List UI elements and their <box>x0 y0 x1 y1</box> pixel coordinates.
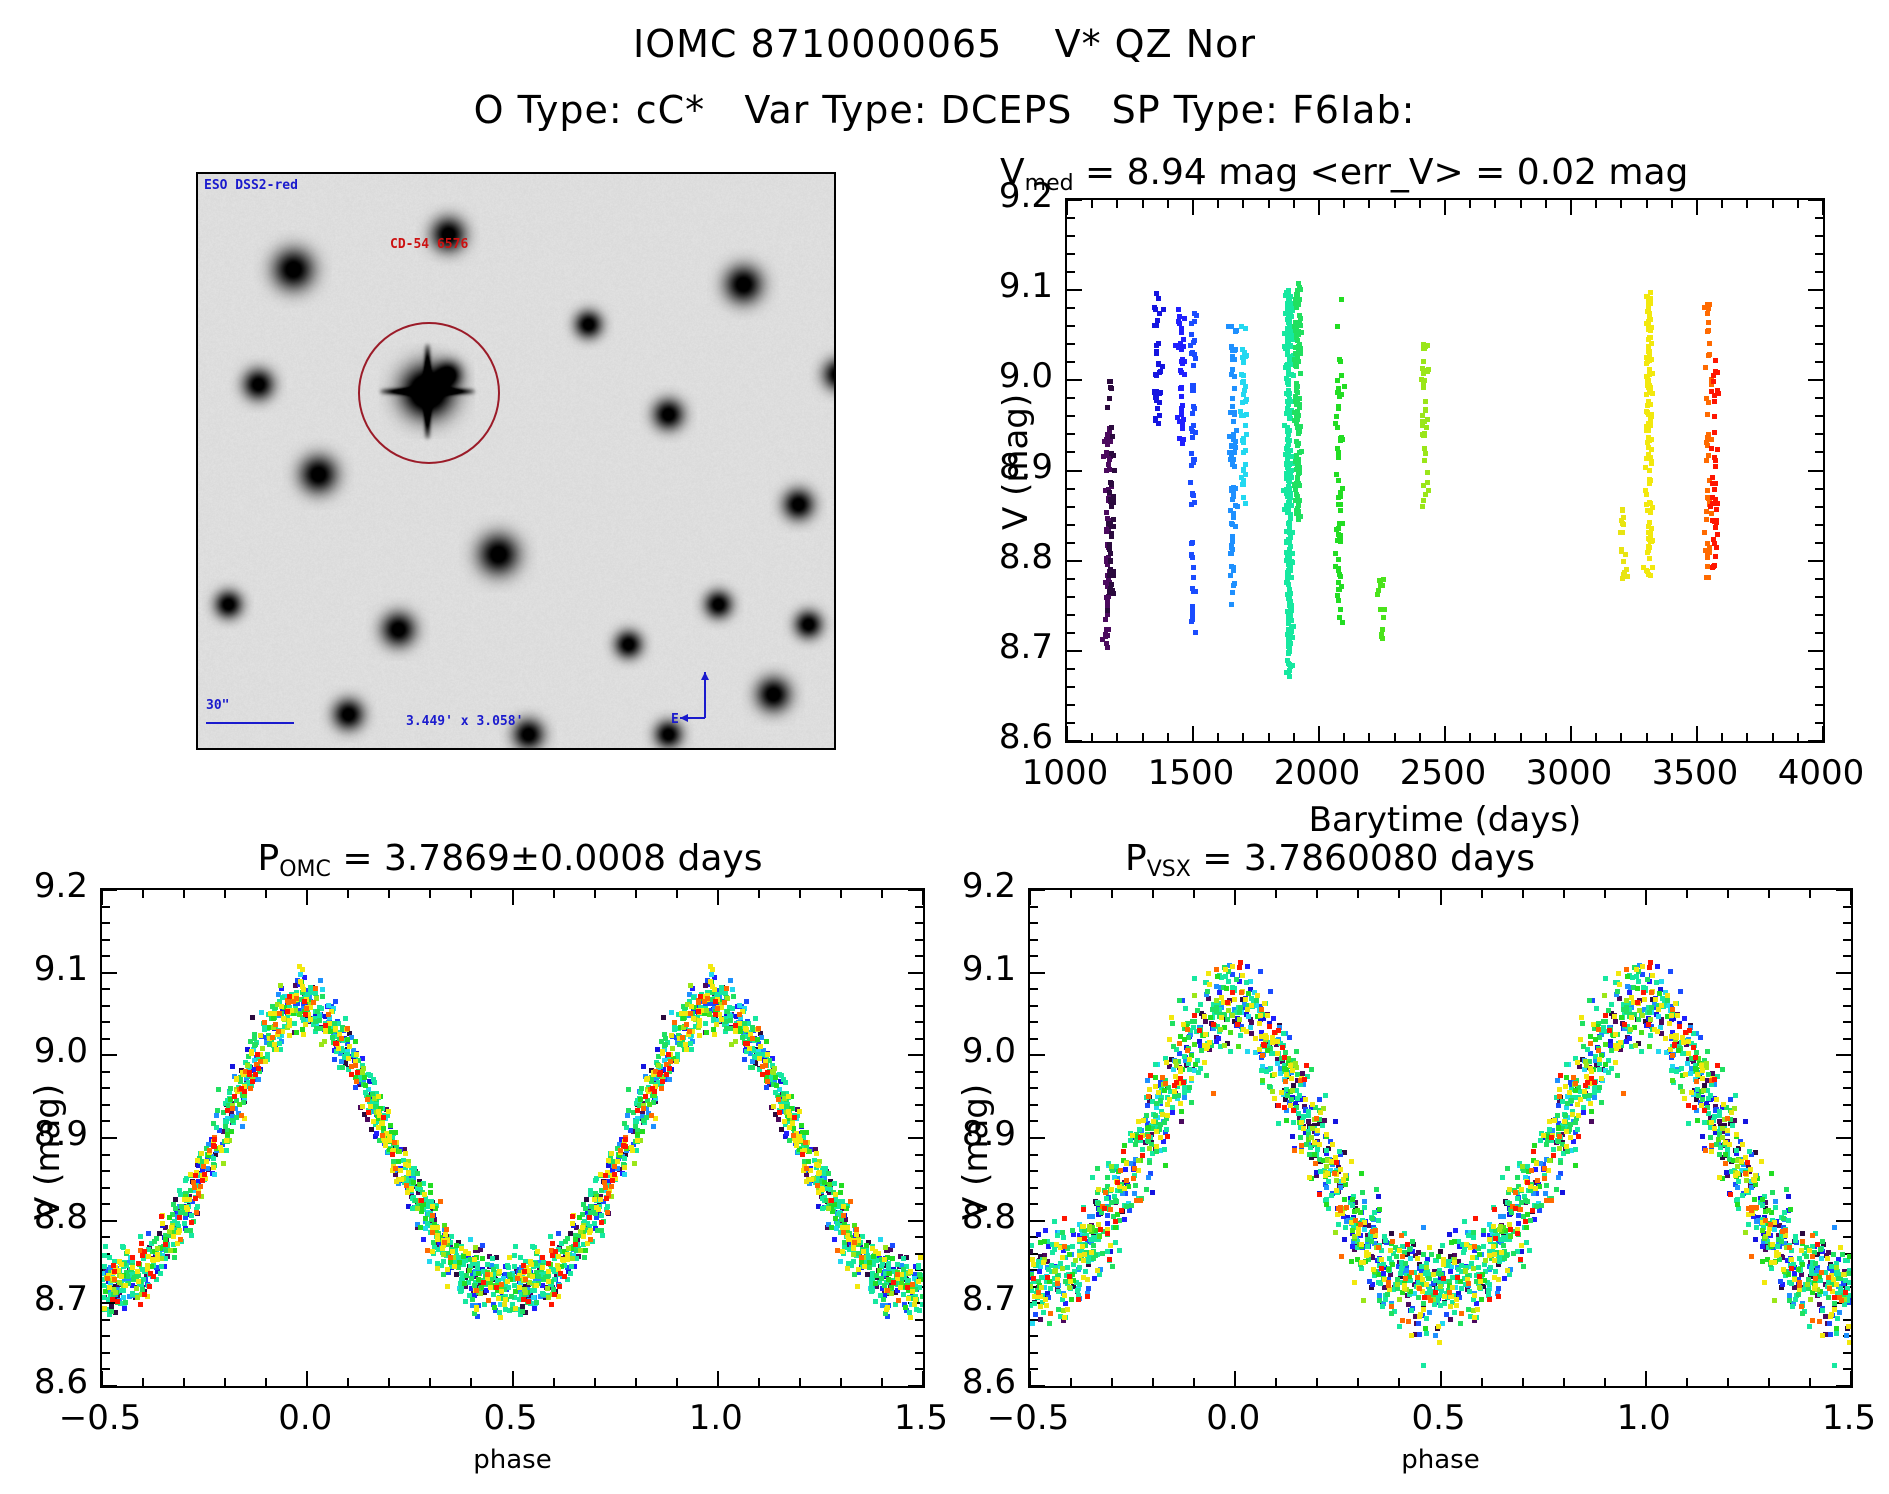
data-point <box>742 1021 747 1026</box>
data-point <box>445 1267 450 1272</box>
data-point <box>1703 548 1708 553</box>
data-point <box>1367 1279 1372 1284</box>
data-point <box>1339 392 1344 397</box>
data-point <box>786 1094 791 1099</box>
data-point <box>816 1171 821 1176</box>
data-point <box>308 1017 313 1022</box>
data-point <box>1033 1312 1038 1317</box>
data-point <box>1828 1332 1833 1337</box>
data-point <box>585 1241 590 1246</box>
data-point <box>1621 572 1626 577</box>
data-point <box>645 1076 650 1081</box>
data-point <box>1190 435 1195 440</box>
data-point <box>709 972 714 977</box>
data-point <box>1334 414 1339 419</box>
data-point <box>684 1022 689 1027</box>
data-point <box>123 1300 128 1305</box>
data-point <box>333 999 338 1004</box>
data-point <box>112 1269 117 1274</box>
data-point <box>430 1213 435 1218</box>
data-point <box>1425 480 1430 485</box>
data-point <box>887 1271 892 1276</box>
data-point <box>651 1124 656 1129</box>
data-point <box>622 1172 627 1177</box>
data-point <box>1423 451 1428 456</box>
data-point <box>1283 365 1288 370</box>
data-point <box>406 1171 411 1176</box>
phase-omc-x-axis-title: phase <box>100 1445 925 1475</box>
lightcurve-x-axis-title: Barytime (days) <box>1065 800 1825 840</box>
data-point <box>1232 410 1237 415</box>
data-point <box>1288 344 1293 349</box>
data-point <box>838 1190 843 1195</box>
dss-sky-image <box>198 174 834 748</box>
phase-vsx-title-subscript: VSX <box>1147 857 1191 882</box>
data-point <box>1462 1247 1467 1252</box>
data-point <box>1705 311 1710 316</box>
figure-root: IOMC 8710000065 V* QZ Nor O Type: cC* Va… <box>0 0 1889 1494</box>
data-point <box>777 1110 782 1115</box>
data-point <box>1648 317 1653 322</box>
data-point <box>1581 1110 1586 1115</box>
data-point <box>705 996 710 1001</box>
data-point <box>556 1231 561 1236</box>
data-point <box>714 1022 719 1027</box>
data-point <box>158 1271 163 1276</box>
data-point <box>1648 1033 1653 1038</box>
data-point <box>292 1021 297 1026</box>
data-point <box>189 1233 194 1238</box>
data-point <box>1122 1217 1127 1222</box>
data-point <box>270 1035 275 1040</box>
data-point <box>355 1070 360 1075</box>
data-point <box>237 1102 242 1107</box>
data-point <box>298 972 303 977</box>
data-point <box>862 1264 867 1269</box>
data-point <box>1233 445 1238 450</box>
data-point <box>814 1162 819 1167</box>
data-point <box>1294 388 1299 393</box>
data-point <box>753 1016 758 1021</box>
data-point <box>610 1178 615 1183</box>
data-point <box>797 1134 802 1139</box>
data-point <box>430 1249 435 1254</box>
data-point <box>799 1123 804 1128</box>
data-point <box>724 986 729 991</box>
data-point <box>512 1283 517 1288</box>
data-point <box>1284 539 1289 544</box>
data-point <box>1038 1317 1043 1322</box>
data-point <box>1712 399 1717 404</box>
data-point <box>600 1233 605 1238</box>
data-point <box>146 1231 151 1236</box>
data-point <box>473 1245 478 1250</box>
data-point <box>1772 1227 1777 1232</box>
data-point <box>430 1225 435 1230</box>
data-point <box>1228 573 1233 578</box>
data-point <box>1678 989 1683 994</box>
data-point <box>123 1283 128 1288</box>
data-point <box>1161 307 1166 312</box>
data-point <box>1154 398 1159 403</box>
data-point <box>308 985 313 990</box>
data-point <box>297 1012 302 1017</box>
data-point <box>582 1255 587 1260</box>
data-point <box>548 1234 553 1239</box>
data-point <box>387 1134 392 1139</box>
data-point <box>1156 421 1161 426</box>
data-point <box>138 1302 143 1307</box>
data-point <box>1650 371 1655 376</box>
data-point <box>317 1018 322 1023</box>
data-point <box>1192 457 1197 462</box>
data-point <box>1192 319 1197 324</box>
data-point <box>562 1274 567 1279</box>
data-point <box>109 1309 114 1314</box>
data-point <box>1243 326 1248 331</box>
data-point <box>1389 1231 1394 1236</box>
data-point <box>1232 348 1237 353</box>
data-point <box>101 1283 106 1288</box>
data-point <box>105 1276 110 1281</box>
data-point <box>1648 501 1653 506</box>
data-point <box>1105 1249 1110 1254</box>
data-point <box>1713 554 1718 559</box>
data-point <box>392 1140 397 1145</box>
data-point <box>303 1022 308 1027</box>
data-point <box>135 1269 140 1274</box>
data-point <box>1715 447 1720 452</box>
data-point <box>733 1029 738 1034</box>
data-point <box>1706 453 1711 458</box>
data-point <box>1682 1016 1687 1021</box>
data-point <box>1425 343 1430 348</box>
data-point <box>1157 311 1162 316</box>
data-point <box>604 1196 609 1201</box>
data-point <box>1743 1119 1748 1124</box>
data-point <box>1288 544 1293 549</box>
data-point <box>1238 1033 1243 1038</box>
data-point <box>782 1119 787 1124</box>
data-point <box>334 1041 339 1046</box>
data-point <box>360 1104 365 1109</box>
data-point <box>660 1079 665 1084</box>
data-point <box>1532 1217 1537 1222</box>
data-point <box>683 1042 688 1047</box>
data-point <box>1283 293 1288 298</box>
data-point <box>506 1265 511 1270</box>
data-point <box>1702 530 1707 535</box>
data-point <box>187 1197 192 1202</box>
data-point <box>1333 1119 1338 1124</box>
data-point <box>1243 384 1248 389</box>
data-point <box>411 1180 416 1185</box>
data-point <box>730 987 735 992</box>
data-point <box>1728 1097 1733 1102</box>
data-point <box>669 1010 674 1015</box>
data-point <box>1712 455 1717 460</box>
data-point <box>1645 508 1650 513</box>
data-point <box>332 1057 337 1062</box>
data-point <box>499 1282 504 1287</box>
data-point <box>1276 1121 1281 1126</box>
data-point <box>1100 637 1105 642</box>
data-point <box>1286 429 1291 434</box>
data-point <box>255 1052 260 1057</box>
data-point <box>895 1272 900 1277</box>
data-point <box>1706 432 1711 437</box>
data-point <box>755 1037 760 1042</box>
data-point <box>550 1253 555 1258</box>
data-point <box>1589 1119 1594 1124</box>
data-point <box>783 1080 788 1085</box>
data-point <box>546 1261 551 1266</box>
data-point <box>1746 1222 1751 1227</box>
data-point <box>1287 313 1292 318</box>
data-point <box>492 1305 497 1310</box>
data-point <box>192 1185 197 1190</box>
data-point <box>1297 498 1302 503</box>
data-point <box>1621 559 1626 564</box>
data-point <box>443 1232 448 1237</box>
data-point <box>1286 670 1291 675</box>
data-point <box>540 1255 545 1260</box>
data-point <box>1342 1237 1347 1242</box>
data-point <box>184 1205 189 1210</box>
data-point <box>1440 1321 1445 1326</box>
data-point <box>1338 574 1343 579</box>
data-point <box>1448 1317 1453 1322</box>
data-point <box>253 1042 258 1047</box>
data-point <box>1645 403 1650 408</box>
data-point <box>622 1156 627 1161</box>
data-point <box>1827 1321 1832 1326</box>
data-point <box>1344 1219 1349 1224</box>
data-point <box>422 1192 427 1197</box>
data-point <box>1705 541 1710 546</box>
data-point <box>193 1196 198 1201</box>
data-point <box>1226 324 1231 329</box>
data-point <box>1182 372 1187 377</box>
data-point <box>861 1249 866 1254</box>
data-point <box>1334 472 1339 477</box>
data-point <box>1268 1066 1273 1071</box>
data-point <box>1075 1288 1080 1293</box>
data-point <box>1507 1272 1512 1277</box>
data-point <box>520 1309 525 1314</box>
data-point <box>503 1297 508 1302</box>
data-point <box>1734 1148 1739 1153</box>
phase-omc-title: POMC = 3.7869±0.0008 days <box>180 838 840 879</box>
data-point <box>1423 399 1428 404</box>
data-point <box>313 1019 318 1024</box>
data-point <box>1336 557 1341 562</box>
data-point <box>696 1009 701 1014</box>
data-point <box>1297 429 1302 434</box>
data-point <box>577 1215 582 1220</box>
data-point <box>1533 1167 1538 1172</box>
data-point <box>1655 964 1660 969</box>
data-point <box>1306 1119 1311 1124</box>
data-point <box>1105 405 1110 410</box>
data-point <box>318 978 323 983</box>
data-point <box>580 1225 585 1230</box>
data-point <box>168 1248 173 1253</box>
data-point <box>256 1077 261 1082</box>
data-point <box>587 1215 592 1220</box>
data-point <box>713 999 718 1004</box>
data-point <box>1295 480 1300 485</box>
data-point <box>1162 1147 1167 1152</box>
data-point <box>1241 392 1246 397</box>
data-point <box>1191 386 1196 391</box>
data-point <box>485 1272 490 1277</box>
data-point <box>234 1076 239 1081</box>
data-point <box>481 1280 486 1285</box>
data-point <box>285 1009 290 1014</box>
data-point <box>684 1047 689 1052</box>
data-point <box>134 1286 139 1291</box>
data-point <box>354 1079 359 1084</box>
data-point <box>1782 1210 1787 1215</box>
data-point <box>346 1056 351 1061</box>
data-point <box>430 1230 435 1235</box>
data-point <box>1733 1093 1738 1098</box>
data-point <box>1231 437 1236 442</box>
data-point <box>1709 446 1714 451</box>
data-point <box>733 1023 738 1028</box>
data-point <box>771 1104 776 1109</box>
data-point <box>839 1183 844 1188</box>
data-point <box>1295 355 1300 360</box>
data-point <box>1286 651 1291 656</box>
data-point <box>399 1177 404 1182</box>
data-point <box>640 1129 645 1134</box>
data-point <box>1338 508 1343 513</box>
data-point <box>557 1284 562 1289</box>
data-point <box>1333 551 1338 556</box>
data-point <box>1648 417 1653 422</box>
data-point <box>512 1264 517 1269</box>
data-point <box>1083 1269 1088 1274</box>
data-point <box>599 1213 604 1218</box>
data-point <box>606 1158 611 1163</box>
data-point <box>173 1197 178 1202</box>
data-point <box>502 1302 507 1307</box>
data-point <box>546 1279 551 1284</box>
phase-vsx-title-rest: = 3.7860080 days <box>1191 838 1535 879</box>
data-point <box>278 983 283 988</box>
data-point <box>592 1221 597 1226</box>
data-point <box>731 994 736 999</box>
data-point <box>361 1066 366 1071</box>
data-point <box>1179 1119 1184 1124</box>
data-point <box>1111 517 1116 522</box>
data-point <box>1287 560 1292 565</box>
data-point <box>204 1159 209 1164</box>
data-point <box>1105 608 1110 613</box>
data-point <box>1715 501 1720 506</box>
data-point <box>1493 1269 1498 1274</box>
phase-omc-plot-area <box>100 888 925 1388</box>
data-point <box>224 1138 229 1143</box>
data-point <box>319 1042 324 1047</box>
data-point <box>1362 1227 1367 1232</box>
data-point <box>353 1039 358 1044</box>
survey-label: ESO DSS2-red <box>204 178 298 193</box>
data-point <box>1108 379 1113 384</box>
data-point <box>1241 413 1246 418</box>
data-point <box>1105 516 1110 521</box>
data-point <box>1433 1333 1438 1338</box>
data-point <box>139 1241 144 1246</box>
data-point <box>1648 290 1653 295</box>
data-point <box>410 1206 415 1211</box>
data-point <box>1295 398 1300 403</box>
data-point <box>1335 378 1340 383</box>
data-point <box>1679 1066 1684 1071</box>
data-point <box>1286 661 1291 666</box>
figure-title-classification: O Type: cC* Var Type: DCEPS SP Type: F6I… <box>0 88 1889 132</box>
data-point <box>722 1000 727 1005</box>
data-point <box>1288 491 1293 496</box>
data-point <box>1109 482 1114 487</box>
data-point <box>1704 575 1709 580</box>
data-point <box>1243 354 1248 359</box>
data-point <box>1298 371 1303 376</box>
data-point <box>1241 360 1246 365</box>
data-point <box>405 1190 410 1195</box>
data-point <box>551 1287 556 1292</box>
data-point <box>1421 359 1426 364</box>
data-point <box>1287 603 1292 608</box>
data-point <box>1706 353 1711 358</box>
data-point <box>549 1302 554 1307</box>
data-point <box>380 1133 385 1138</box>
data-point <box>1289 608 1294 613</box>
data-point <box>1156 341 1161 346</box>
data-point <box>1646 344 1651 349</box>
data-point <box>1381 577 1386 582</box>
data-point <box>729 1042 734 1047</box>
data-point <box>704 1030 709 1035</box>
data-point <box>515 1276 520 1281</box>
data-point <box>689 1004 694 1009</box>
data-point <box>117 1280 122 1285</box>
data-point <box>756 1026 761 1031</box>
data-point <box>1293 321 1298 326</box>
data-point <box>804 1166 809 1171</box>
data-point <box>1376 588 1381 593</box>
data-point <box>1232 581 1237 586</box>
data-point <box>112 1277 117 1282</box>
data-point <box>603 1173 608 1178</box>
data-point <box>1426 488 1431 493</box>
data-point <box>758 1044 763 1049</box>
data-point <box>838 1259 843 1264</box>
data-point <box>1105 1221 1110 1226</box>
data-point <box>1286 632 1291 637</box>
data-point <box>1704 517 1709 522</box>
data-point <box>1292 418 1297 423</box>
data-point <box>552 1292 557 1297</box>
data-point <box>427 1259 432 1264</box>
data-point <box>374 1131 379 1136</box>
lightcurve-plot-area <box>1065 198 1825 743</box>
data-point <box>1700 1134 1705 1139</box>
data-point <box>779 1104 784 1109</box>
data-point <box>623 1137 628 1142</box>
